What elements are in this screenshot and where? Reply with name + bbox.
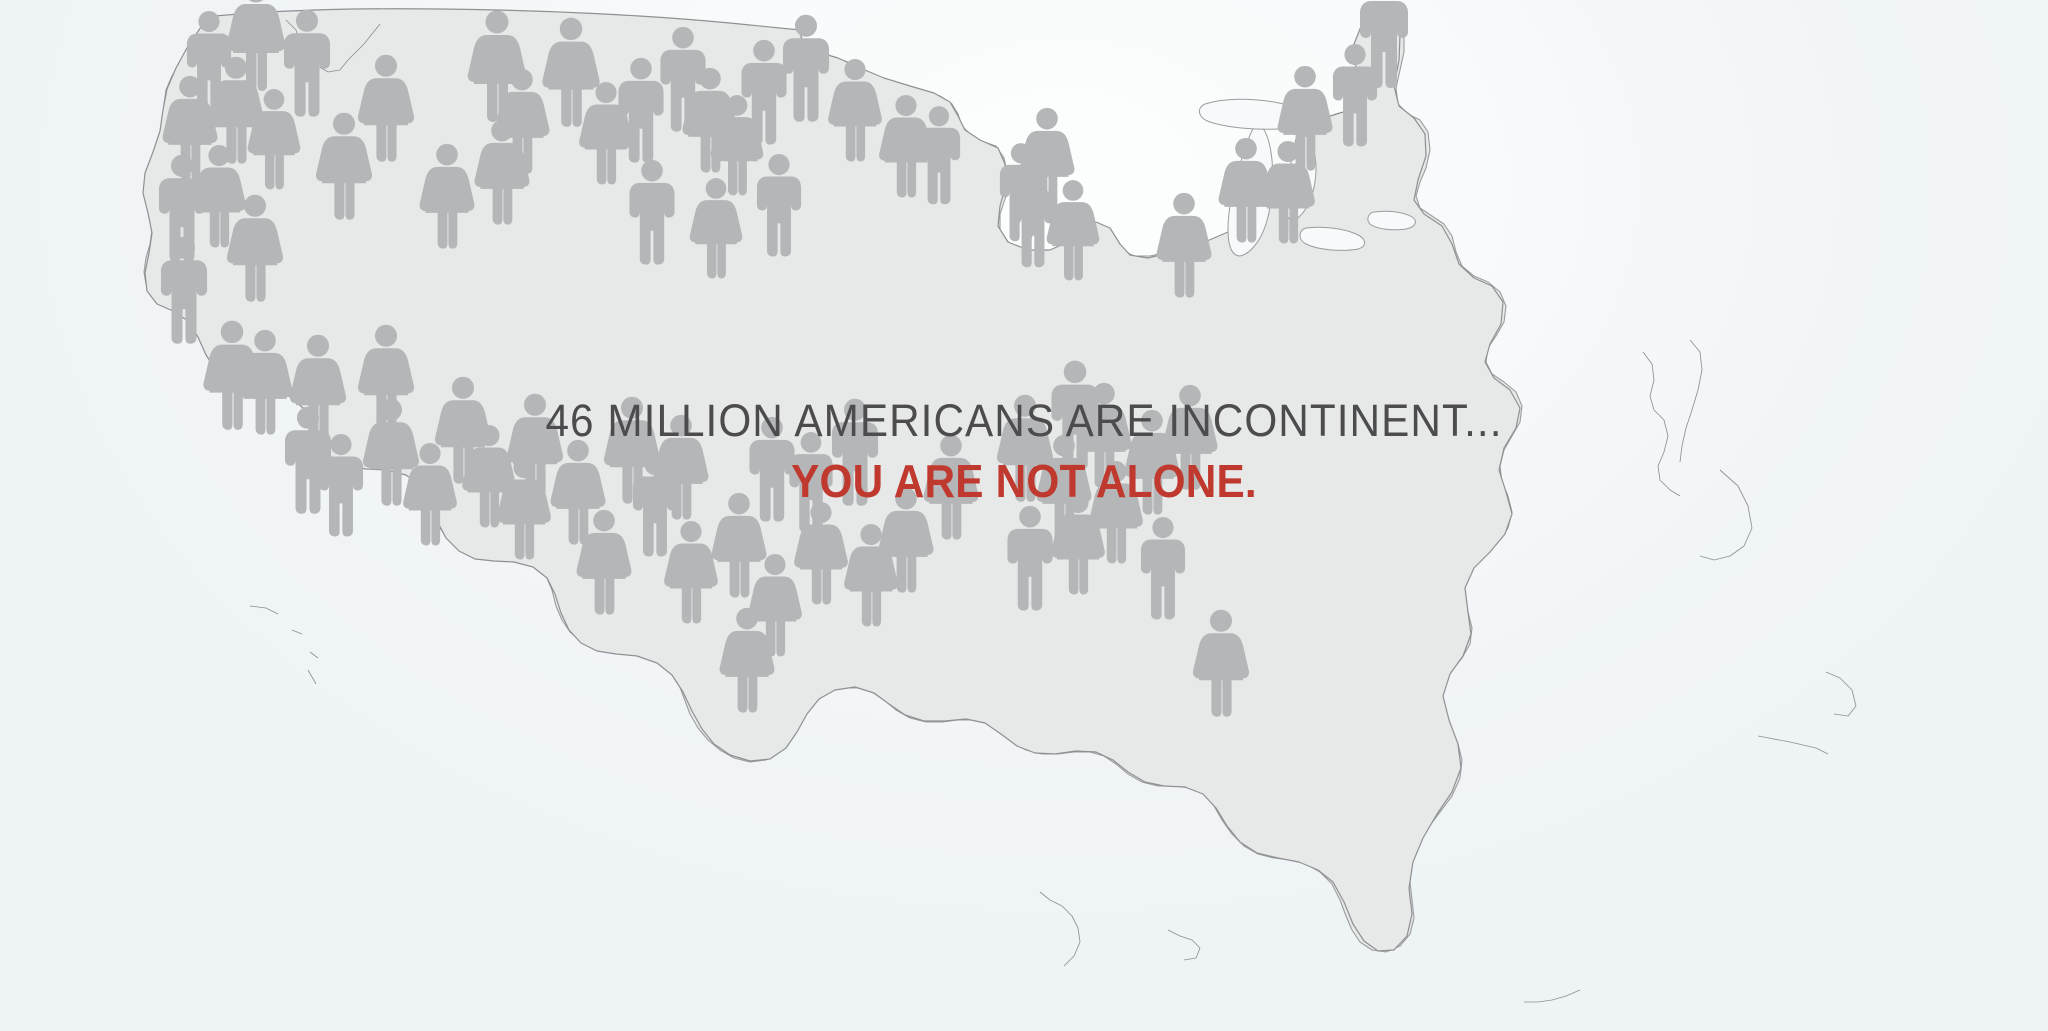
headline-primary-text: 46 MILLION AMERICANS ARE INCONTINENT... <box>61 398 1986 443</box>
channel-islands-detail <box>250 606 318 684</box>
texas-gulf-detail <box>1040 892 1080 966</box>
lake-superior <box>1199 99 1312 129</box>
infographic-canvas: 46 MILLION AMERICANS ARE INCONTINENT... … <box>0 0 2048 1031</box>
florida-keys-detail <box>1524 990 1580 1002</box>
long-island-detail <box>1758 736 1828 754</box>
headline-secondary-text: YOU ARE NOT ALONE. <box>82 458 1966 504</box>
headline-block: 46 MILLION AMERICANS ARE INCONTINENT... … <box>0 398 2048 504</box>
cape-cod-detail <box>1826 672 1856 716</box>
us-map <box>0 0 2048 1031</box>
louisiana-delta-detail <box>1168 930 1200 960</box>
